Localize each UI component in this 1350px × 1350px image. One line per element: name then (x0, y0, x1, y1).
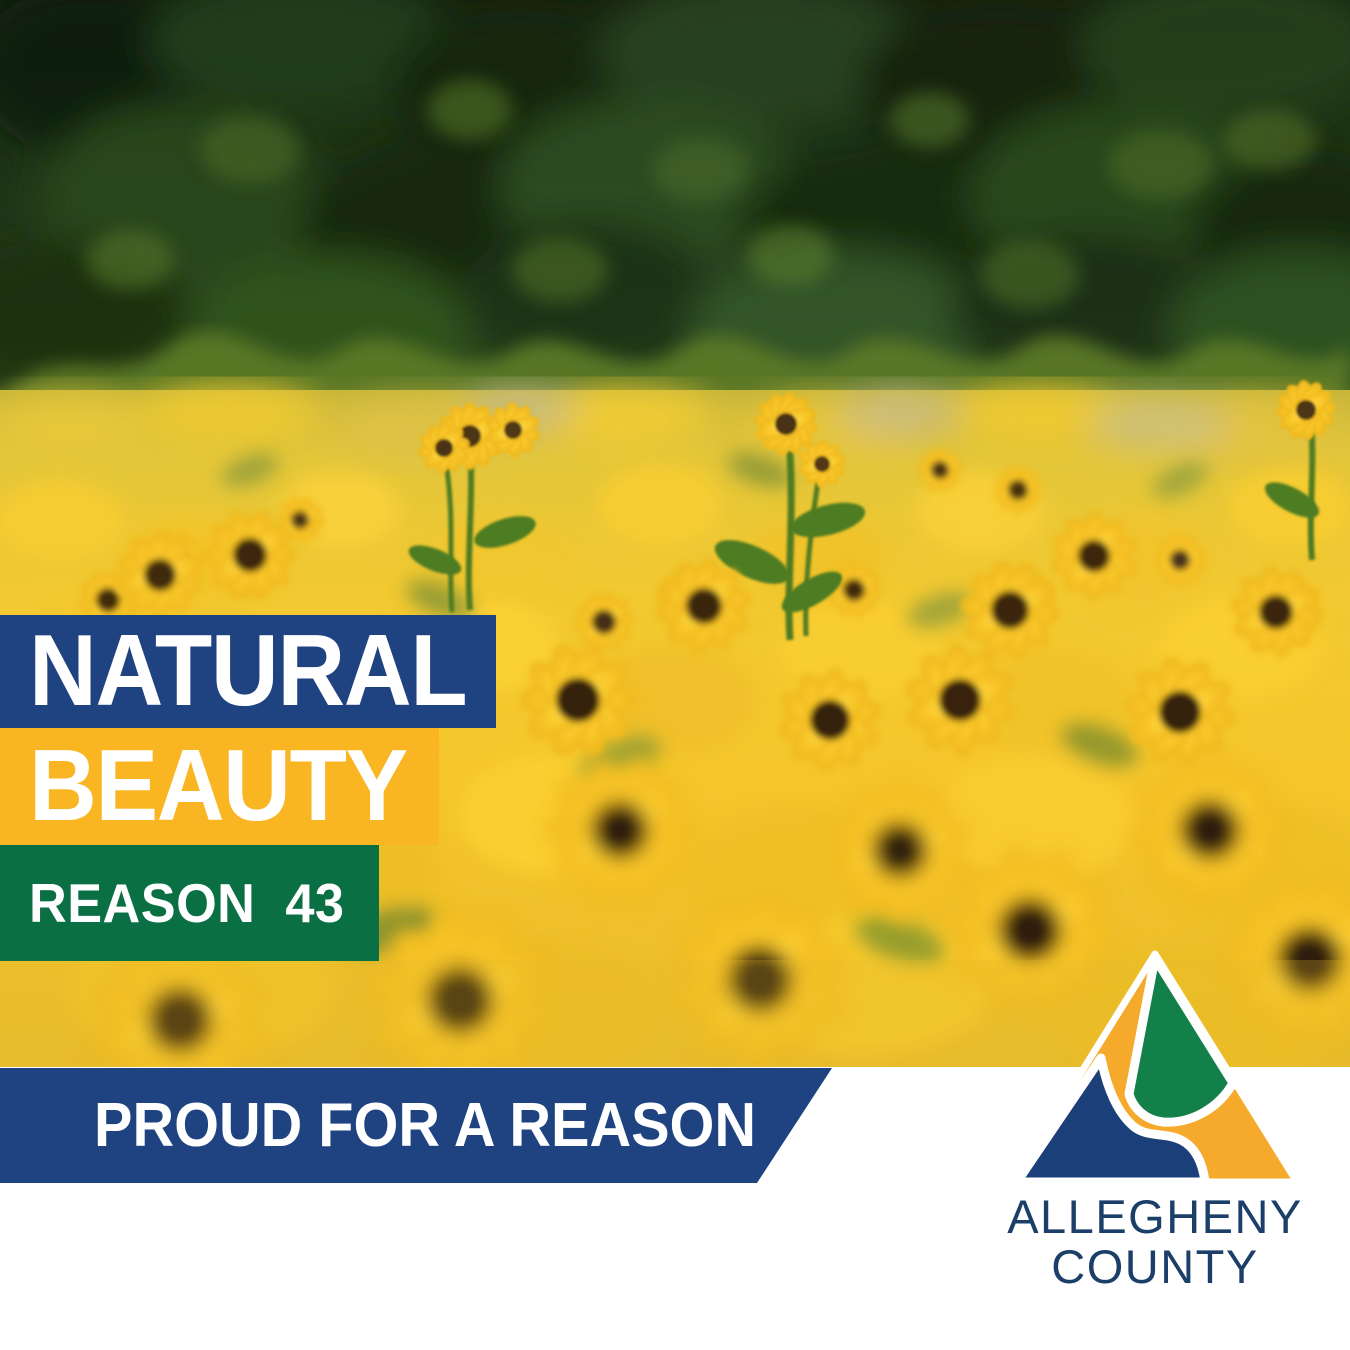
headline-band-beauty: BEAUTY (0, 728, 439, 845)
allegheny-county-triangle-logo-icon (1005, 948, 1305, 1188)
tagline-text: PROUD FOR A REASON (94, 1095, 756, 1157)
headline-band-reason: REASON 43 (0, 845, 379, 961)
tagline-banner: PROUD FOR A REASON (0, 1068, 832, 1183)
logo-wordmark: ALLEGHENY COUNTY (985, 1192, 1325, 1292)
headline-line-2: BEAUTY (29, 736, 407, 837)
headline-band-natural: NATURAL (0, 615, 496, 728)
headline-line-1: NATURAL (29, 621, 466, 722)
headline-line-3: REASON 43 (29, 876, 344, 931)
poster-canvas: NATURAL BEAUTY REASON 43 PROUD FOR A REA… (0, 0, 1350, 1350)
logo-name-line-1: ALLEGHENY (985, 1192, 1325, 1242)
logo-name-line-2: COUNTY (985, 1242, 1325, 1292)
allegheny-county-logo: ALLEGHENY COUNTY (985, 948, 1325, 1308)
